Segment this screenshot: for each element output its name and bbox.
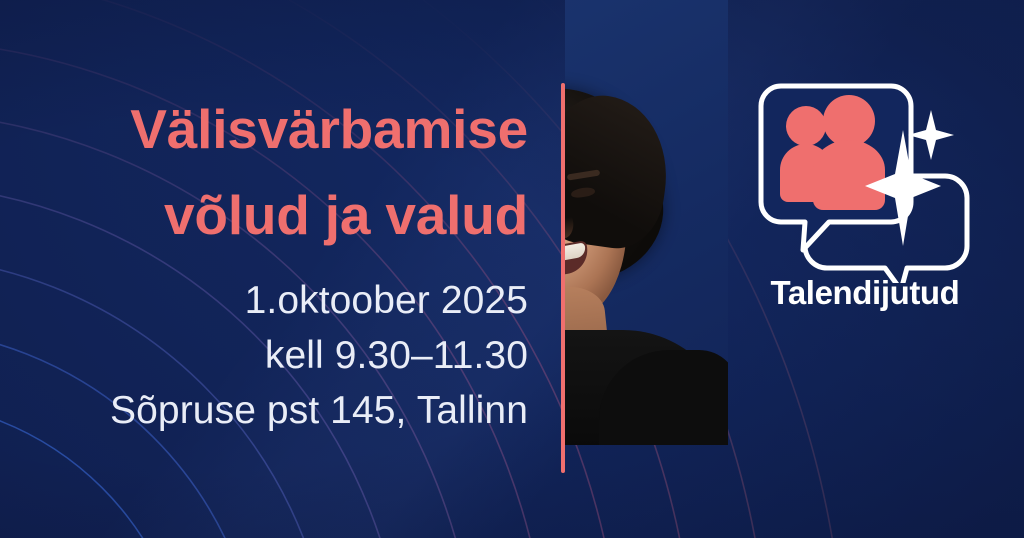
- people-icon: [780, 95, 885, 210]
- page-title: Välisvärbamise võlud ja valud: [8, 87, 528, 259]
- brand-name: Talendijutud: [745, 274, 985, 312]
- event-details: 1.oktoober 2025 kell 9.30–11.30 Sõpruse …: [8, 274, 528, 439]
- speech-bubbles-people-sparkle-icon: [745, 78, 985, 283]
- text-block: Välisvärbamise võlud ja valud 1.oktoober…: [0, 0, 546, 538]
- person-body-front: [813, 140, 885, 210]
- portrait-image: [565, 0, 728, 445]
- event-location: Sõpruse pst 145, Tallinn: [8, 384, 528, 439]
- portrait-photo: [565, 0, 728, 445]
- event-time: kell 9.30–11.30: [8, 329, 528, 384]
- brand-logo: Talendijutud: [745, 78, 985, 318]
- person-head-back: [786, 106, 826, 146]
- title-line-1: Välisvärbamise: [130, 98, 528, 160]
- title-line-2: võlud ja valud: [8, 173, 528, 259]
- event-poster: Välisvärbamise võlud ja valud 1.oktoober…: [0, 0, 1024, 538]
- sparkle-small-icon: [908, 110, 954, 160]
- person-head-front: [823, 95, 875, 147]
- event-date: 1.oktoober 2025: [8, 274, 528, 329]
